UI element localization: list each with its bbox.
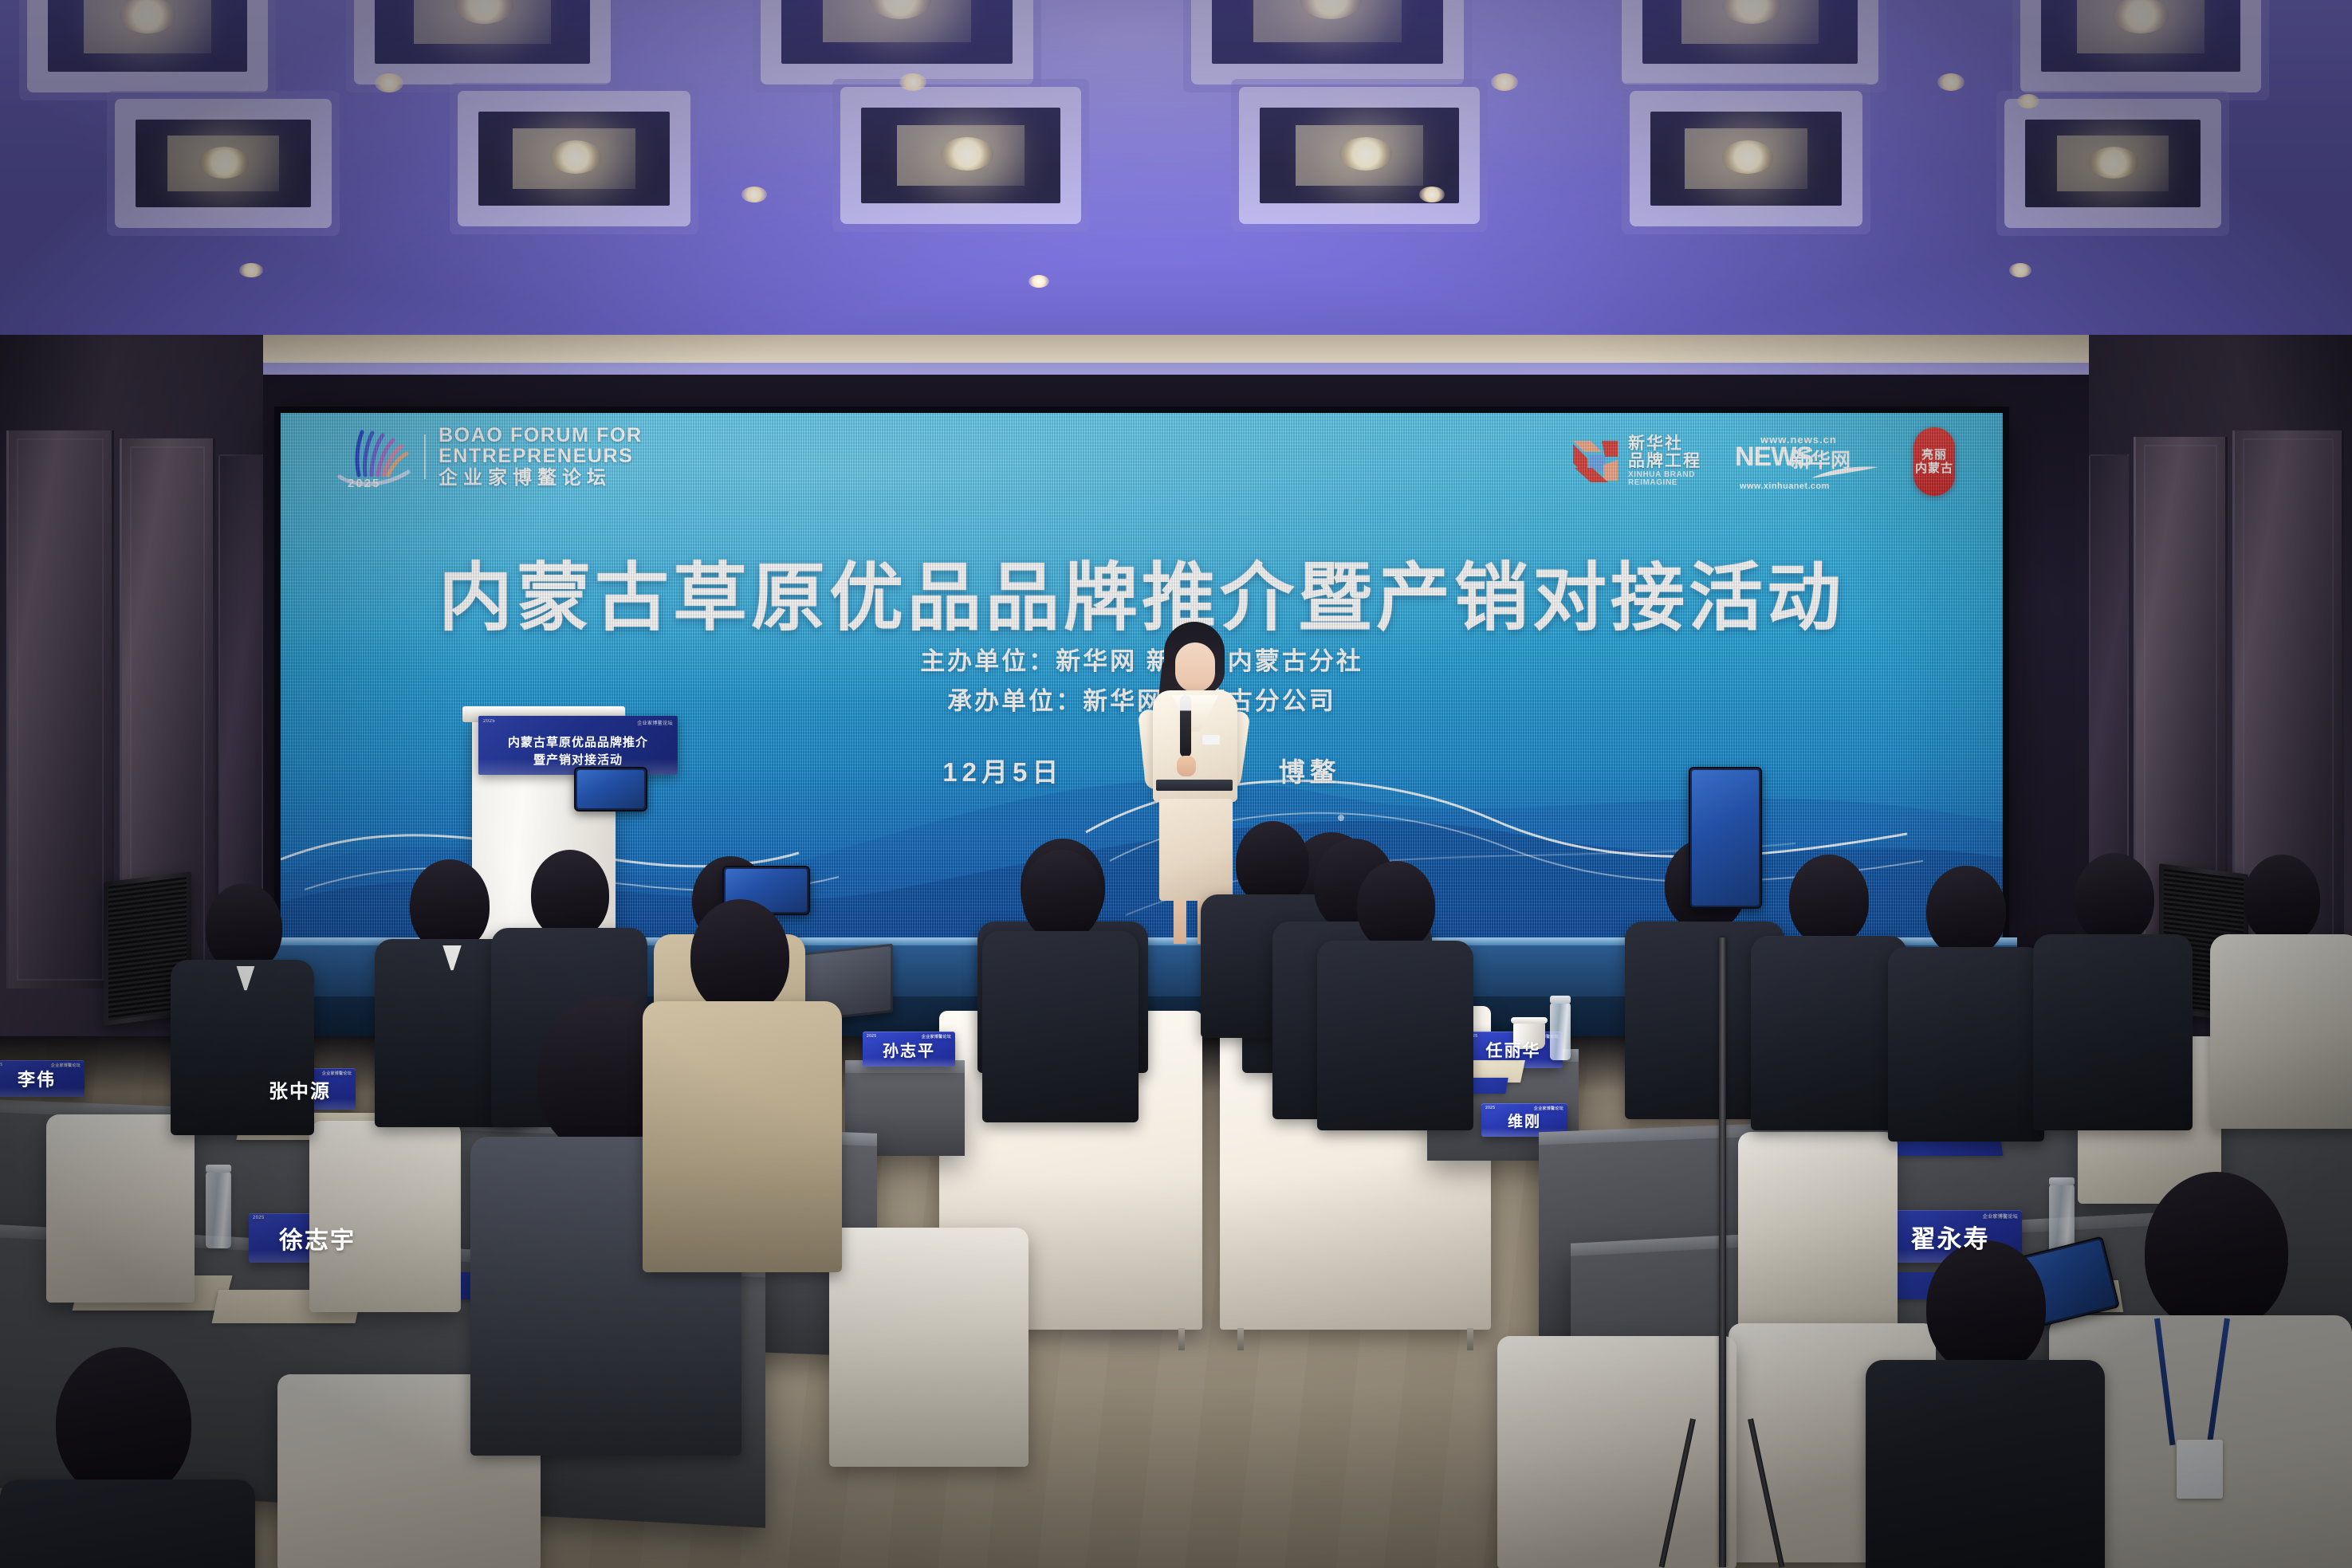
brand-en-line2: ENTREPRENEURS	[439, 446, 643, 467]
brand-year: 2025	[348, 477, 380, 490]
audience-member	[1317, 861, 1473, 1116]
podium-sign-head-right: 企业家博鳌论坛	[637, 719, 673, 726]
name-badge	[2177, 1440, 2223, 1499]
host-leg-left	[1174, 899, 1186, 944]
microphone	[1180, 695, 1191, 757]
foreground-attendee-left	[0, 1347, 255, 1568]
host-badge	[1202, 735, 1220, 745]
xinhua-brand-mark-icon	[1570, 436, 1621, 487]
placard-name: 维刚	[1508, 1110, 1541, 1131]
placard-name: 任丽华	[1486, 1038, 1541, 1062]
xinhuanet-url-bottom: www.xinhuanet.com	[1740, 481, 1830, 491]
xinhua-en-line2: REIMAGINE	[1628, 479, 1701, 488]
livestream-phone[interactable]	[1689, 767, 1762, 909]
xinhua-cn-line2: 品牌工程	[1628, 453, 1701, 470]
boao-forum-logo-icon: 2025	[335, 426, 411, 488]
host-cue-card	[1156, 780, 1233, 791]
screen-date: 12月5日	[942, 751, 1063, 789]
podium-sign-line1: 内蒙古草原优品品牌推介	[478, 733, 678, 750]
xinhua-cn-line1: 新华社	[1628, 435, 1701, 453]
audience-member	[1751, 855, 1907, 1118]
audience-member	[2033, 853, 2193, 1116]
seal-line1: 亮丽	[1921, 448, 1947, 462]
ceiling	[0, 0, 2352, 375]
xinhuanet-swoosh-icon	[1810, 464, 1880, 481]
placard-name: 徐志宇	[279, 1220, 356, 1256]
water-bottle	[1550, 1003, 1571, 1060]
xinhuanet-logo: www.news.cn NEWS 新华网 www.xinhuanet.com	[1733, 435, 1882, 488]
xinhua-brand-logo: 新华社 品牌工程 XINHUA BRAND REIMAGINE	[1570, 435, 1701, 488]
smartphone-camera[interactable]	[574, 767, 647, 812]
placard-name: 翟永寿	[1911, 1219, 1990, 1255]
placard-sun-zhiping: 2025企业家博鳌论坛 孙志平	[863, 1032, 955, 1067]
host-face	[1175, 643, 1215, 692]
podium-sign: 2025 企业家博鳌论坛 内蒙古草原优品品牌推介 暨产销对接活动	[478, 716, 678, 775]
brand-divider	[424, 434, 426, 479]
screen-place: 博鳌	[1279, 751, 1341, 789]
left-door[interactable]	[6, 430, 114, 988]
placard-name: 张中源	[269, 1075, 331, 1103]
foreground-attendee-right-back	[1866, 1240, 2105, 1568]
placard-li-wei: 2025企业家博鳌论坛 李伟	[0, 1060, 85, 1097]
water-bottle	[206, 1172, 231, 1248]
audience-chair[interactable]	[1497, 1336, 1736, 1568]
foreground-attendee-tan	[643, 899, 842, 1274]
seal-line2: 内蒙古	[1915, 462, 1953, 475]
audience-chair[interactable]	[309, 1121, 461, 1312]
brand-cn-line: 企业家博鳌论坛	[439, 469, 643, 488]
host-hand	[1177, 756, 1196, 776]
boao-forum-brand-lockup: 2025 BOAO FORUM FOR ENTREPRENEURS 企业家博鳌论…	[335, 426, 643, 488]
tripod-stand	[1719, 937, 1726, 1567]
screen-logo-row: 新华社 品牌工程 XINHUA BRAND REIMAGINE www.news…	[1570, 427, 1955, 496]
audience-chair[interactable]	[829, 1228, 1029, 1467]
audience-member	[982, 850, 1139, 1105]
podium-sign-head-left: 2025	[483, 719, 495, 726]
inner-mongolia-seal-icon: 亮丽 内蒙古	[1913, 427, 1955, 496]
audience-member	[1888, 866, 2044, 1129]
audience-member	[2210, 855, 2352, 1118]
event-photo-scene: 2025 BOAO FORUM FOR ENTREPRENEURS 企业家博鳌论…	[0, 0, 2352, 1568]
placard-name: 李伟	[18, 1066, 56, 1091]
placard-name: 孙志平	[883, 1038, 935, 1061]
audience-chair[interactable]	[46, 1114, 195, 1303]
brand-en-line1: BOAO FORUM FOR	[439, 426, 643, 446]
